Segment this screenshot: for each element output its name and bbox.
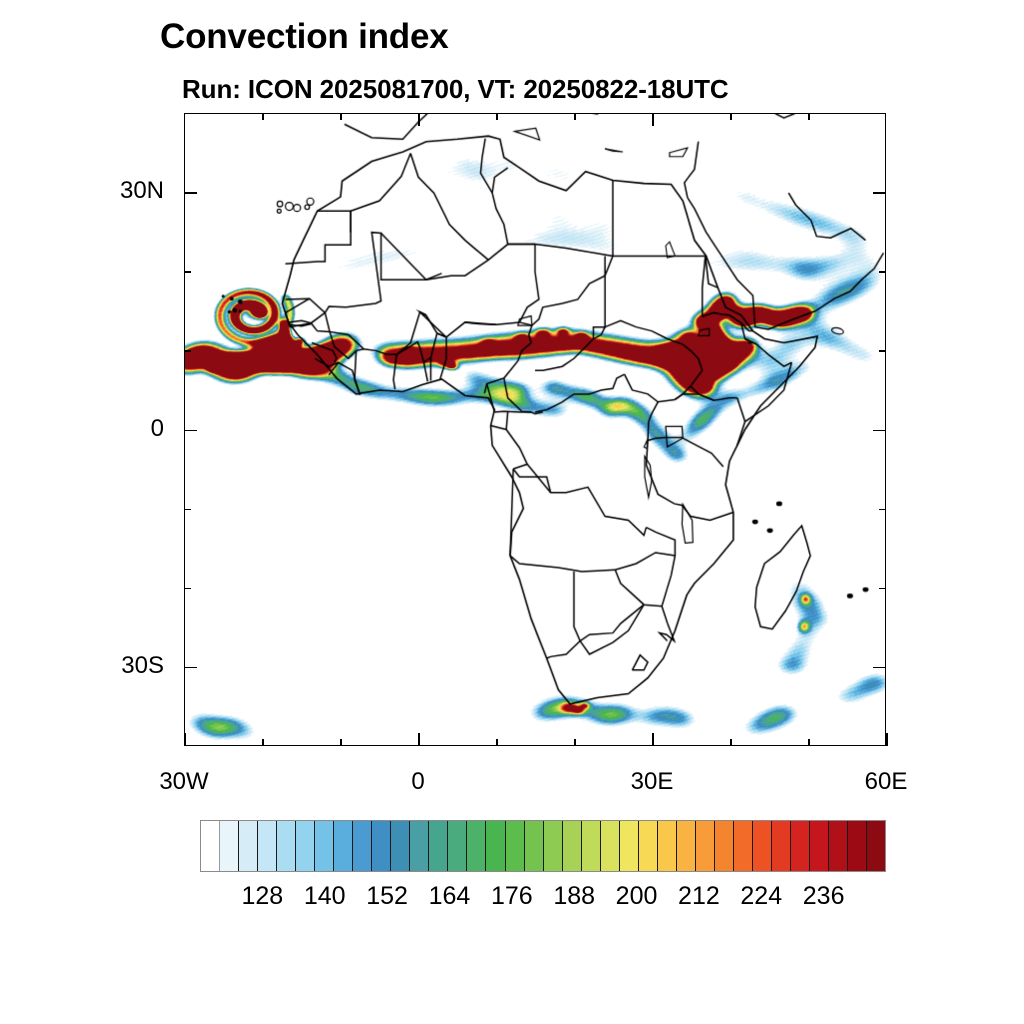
tick-x-bottom-40 bbox=[730, 739, 732, 746]
tick-x-bottom-10 bbox=[496, 739, 498, 746]
colorbar-cell-14 bbox=[467, 821, 486, 871]
colorbar-cell-5 bbox=[296, 821, 315, 871]
tick-y-right--30 bbox=[873, 667, 886, 669]
colorbar-cell-2 bbox=[239, 821, 258, 871]
colorbar-cell-23 bbox=[639, 821, 658, 871]
tick-x-top--10 bbox=[340, 113, 342, 120]
tick-x-top-10 bbox=[496, 113, 498, 120]
tick-x-bottom-60 bbox=[886, 733, 888, 746]
convection-index-heatmap bbox=[185, 114, 885, 745]
tick-y-left-20 bbox=[184, 271, 191, 273]
colorbar-cell-35 bbox=[867, 821, 885, 871]
convection-index-figure: Convection index Run: ICON 2025081700, V… bbox=[0, 0, 1024, 1024]
colorbar-cell-26 bbox=[696, 821, 715, 871]
tick-y-left--30 bbox=[184, 667, 197, 669]
colorbar-label-128: 128 bbox=[242, 882, 284, 911]
tick-y-left-0 bbox=[184, 430, 197, 432]
colorbar-label-176: 176 bbox=[491, 882, 533, 911]
colorbar-cell-31 bbox=[791, 821, 810, 871]
tick-x-top-30 bbox=[652, 113, 654, 126]
colorbar-label-200: 200 bbox=[616, 882, 658, 911]
tick-y-right-30 bbox=[873, 192, 886, 194]
y-axis-label-30N: 30N bbox=[56, 177, 164, 205]
tick-x-bottom--10 bbox=[340, 739, 342, 746]
colorbar-cell-13 bbox=[448, 821, 467, 871]
tick-y-right--20 bbox=[879, 588, 886, 590]
tick-x-bottom--30 bbox=[184, 733, 186, 746]
colorbar-cell-15 bbox=[486, 821, 505, 871]
colorbar-cell-4 bbox=[277, 821, 296, 871]
tick-y-right--10 bbox=[879, 509, 886, 511]
colorbar-cell-11 bbox=[410, 821, 429, 871]
x-axis-label-30E: 30E bbox=[592, 768, 712, 796]
x-axis-label-60E: 60E bbox=[826, 768, 946, 796]
tick-y-left-30 bbox=[184, 192, 197, 194]
page-title: Convection index bbox=[160, 17, 449, 57]
colorbar-label-152: 152 bbox=[366, 882, 408, 911]
colorbar-cell-30 bbox=[772, 821, 791, 871]
colorbar bbox=[200, 820, 886, 872]
colorbar-cell-24 bbox=[658, 821, 677, 871]
tick-y-left--10 bbox=[184, 509, 191, 511]
colorbar-cell-21 bbox=[601, 821, 620, 871]
map-plot-area bbox=[184, 113, 886, 746]
colorbar-cell-28 bbox=[734, 821, 753, 871]
tick-x-bottom--20 bbox=[262, 739, 264, 746]
colorbar-label-140: 140 bbox=[304, 882, 346, 911]
y-axis-label-0: 0 bbox=[56, 415, 164, 443]
tick-y-left--20 bbox=[184, 588, 191, 590]
tick-y-left-10 bbox=[184, 350, 191, 352]
tick-x-bottom-50 bbox=[808, 739, 810, 746]
colorbar-cell-6 bbox=[315, 821, 334, 871]
run-valid-time-subtitle: Run: ICON 2025081700, VT: 20250822-18UTC bbox=[182, 74, 729, 105]
colorbar-cell-25 bbox=[677, 821, 696, 871]
tick-y-right-20 bbox=[879, 271, 886, 273]
tick-x-top--20 bbox=[262, 113, 264, 120]
tick-x-bottom-20 bbox=[574, 739, 576, 746]
colorbar-cell-18 bbox=[544, 821, 563, 871]
colorbar-cell-7 bbox=[334, 821, 353, 871]
colorbar-cell-12 bbox=[429, 821, 448, 871]
colorbar-cell-0 bbox=[201, 821, 220, 871]
colorbar-cell-33 bbox=[829, 821, 848, 871]
colorbar-label-188: 188 bbox=[553, 882, 595, 911]
colorbar-cell-19 bbox=[563, 821, 582, 871]
colorbar-label-212: 212 bbox=[678, 882, 720, 911]
colorbar-cell-3 bbox=[258, 821, 277, 871]
y-axis-label-30S: 30S bbox=[56, 652, 164, 680]
colorbar-cell-1 bbox=[220, 821, 239, 871]
colorbar-cell-34 bbox=[848, 821, 867, 871]
tick-x-top-0 bbox=[418, 113, 420, 126]
colorbar-cell-17 bbox=[525, 821, 544, 871]
colorbar-cell-10 bbox=[391, 821, 410, 871]
x-axis-label-30W: 30W bbox=[124, 768, 244, 796]
colorbar-cell-16 bbox=[506, 821, 525, 871]
colorbar-cell-20 bbox=[582, 821, 601, 871]
tick-x-top-40 bbox=[730, 113, 732, 120]
colorbar-label-164: 164 bbox=[429, 882, 471, 911]
tick-y-right-0 bbox=[873, 430, 886, 432]
colorbar-cell-8 bbox=[353, 821, 372, 871]
tick-x-bottom-30 bbox=[652, 733, 654, 746]
colorbar-cell-27 bbox=[715, 821, 734, 871]
colorbar-cell-29 bbox=[753, 821, 772, 871]
tick-x-bottom-0 bbox=[418, 733, 420, 746]
colorbar-cell-9 bbox=[372, 821, 391, 871]
colorbar-label-224: 224 bbox=[740, 882, 782, 911]
colorbar-tick-labels: 128140152164176188200212224236 bbox=[200, 882, 886, 916]
tick-x-top-50 bbox=[808, 113, 810, 120]
tick-x-top-20 bbox=[574, 113, 576, 120]
colorbar-cell-22 bbox=[620, 821, 639, 871]
colorbar-cell-32 bbox=[810, 821, 829, 871]
x-axis-label-0: 0 bbox=[358, 768, 478, 796]
tick-y-right-10 bbox=[879, 350, 886, 352]
colorbar-label-236: 236 bbox=[803, 882, 845, 911]
